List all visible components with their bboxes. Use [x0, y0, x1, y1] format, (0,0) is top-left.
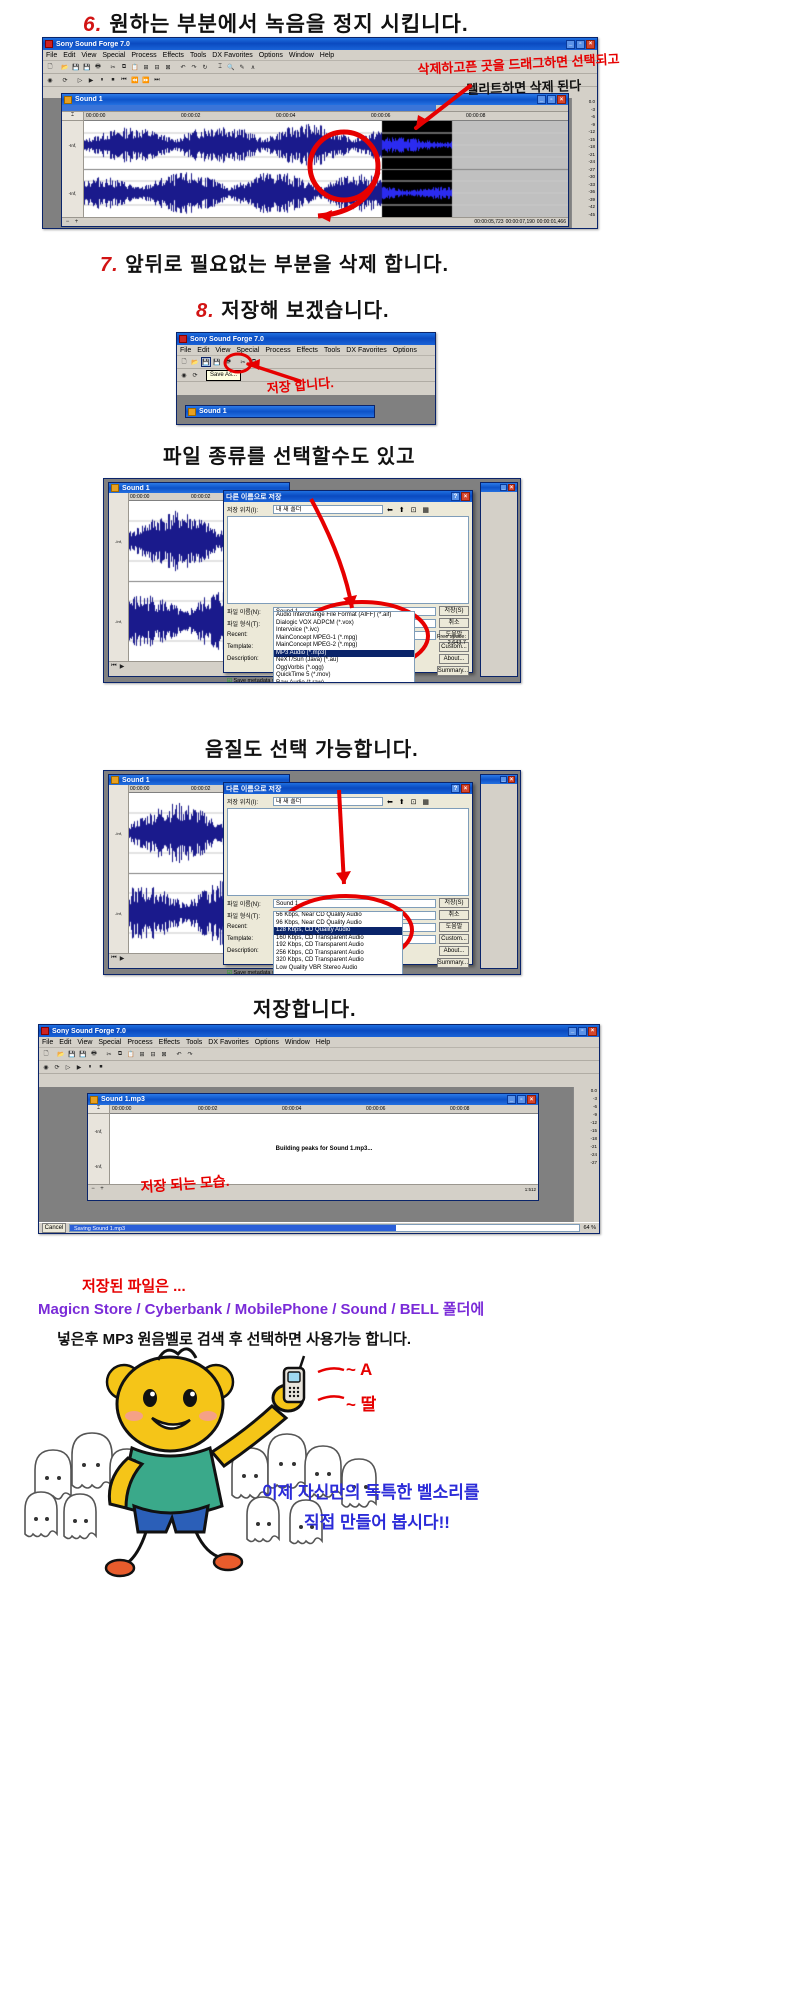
db-scale: 0.0 -3 -6 -9 -12 -15 -18 -21 -24 -27 -30… [571, 98, 597, 228]
document-icon-5 [90, 1096, 98, 1104]
print-icon[interactable]: 🖶 [93, 62, 103, 72]
file-name-row-2[interactable]: 파일 이름(N): Sound 1 저장(S) [227, 898, 469, 908]
db-meter-panel-3: _ × [480, 482, 518, 677]
meter-close-4[interactable]: × [508, 776, 515, 783]
db-tick-2: -6 [572, 113, 595, 121]
meter-window-controls-3[interactable]: _ × [500, 484, 515, 491]
ruler5-tick-4: 00:00:08 [450, 1106, 469, 1112]
format-option-7[interactable]: OggVorbis (*.ogg) [274, 665, 414, 673]
document-window-controls[interactable]: _ ▫ × [537, 95, 566, 104]
menu-bar-5[interactable]: File Edit View Special Process Effects T… [39, 1037, 599, 1048]
menu-process[interactable]: Process [131, 52, 156, 59]
db5-tick-7: -21 [574, 1143, 597, 1151]
close-button-5[interactable]: × [588, 1027, 597, 1036]
waveform-display[interactable] [84, 121, 568, 217]
loop-icon-5[interactable]: ⟳ [52, 1062, 62, 1072]
magnify-icon[interactable]: 🔍 [226, 62, 236, 72]
menu-help[interactable]: Help [320, 52, 334, 59]
rewind-icon[interactable]: ⏪ [130, 75, 140, 85]
menu2-special[interactable]: Special [236, 347, 259, 354]
mix-icon[interactable]: ⊞ [141, 62, 151, 72]
save-all-icon-5[interactable]: 💾 [78, 1049, 88, 1059]
zoom-in-icon[interactable]: + [73, 219, 80, 226]
db-tick-14: -42 [572, 203, 595, 211]
db5-tick-3: -9 [574, 1111, 597, 1119]
new-icon-2[interactable]: 🗋 [179, 357, 189, 367]
cut-icon-5[interactable]: ✂ [104, 1049, 114, 1059]
app-status-bar-5: Cancel Saving Sound 1.mp3 64 % [39, 1222, 599, 1233]
record-icon-5[interactable]: ◉ [41, 1062, 51, 1072]
print-icon-5[interactable]: 🖶 [89, 1049, 99, 1059]
refresh-icon[interactable]: ↻ [200, 62, 210, 72]
db-scale-5: 0.0 -3 -6 -9 -12 -15 -18 -21 -24 -27 [573, 1087, 599, 1233]
db-tick-10: -30 [572, 173, 595, 181]
format-option-9[interactable]: Raw Audio (*.raw) [274, 680, 414, 684]
goto-start-icon[interactable]: ⏮ [119, 75, 129, 85]
menu2-tools[interactable]: Tools [324, 347, 340, 354]
document-minimize-button[interactable]: _ [537, 95, 546, 104]
meter-minimize-4[interactable]: _ [500, 776, 507, 783]
menu2-file[interactable]: File [180, 347, 191, 354]
play-icon-3[interactable]: ▶ [119, 663, 125, 669]
window-controls[interactable]: _ ▫ × [566, 40, 595, 49]
template-option-0[interactable]: 56 Kbps, Near CD Quality Audio [274, 912, 402, 920]
dialog-titlebar-2[interactable]: 다른 이름으로 저장 ? × [224, 783, 472, 794]
template-option-5[interactable]: 256 Kbps, CD Transparent Audio [274, 950, 402, 958]
summary-button-1[interactable]: Summary... [437, 666, 469, 676]
window5-titlebar[interactable]: Sony Sound Forge 7.0 _ ▫ × [39, 1025, 599, 1037]
ruler5-tick-1: 00:00:02 [198, 1106, 217, 1112]
sound-document-window[interactable]: Sound 1 _ ▫ × ⌶ 00:00:00 00:00:02 00:00:… [61, 93, 569, 227]
menu2-dx-favorites[interactable]: DX Favorites [346, 347, 386, 354]
ruler-tick-0: 00:00:00 [86, 113, 105, 119]
paste-icon-5[interactable]: 📋 [126, 1049, 136, 1059]
save-in-label-2: 저장 위치(I): [227, 797, 273, 806]
menu-special[interactable]: Special [102, 52, 125, 59]
menu5-dx-favorites[interactable]: DX Favorites [208, 1039, 248, 1046]
file-type-label-2: 파일 형식(T): [227, 911, 273, 920]
about-button-2[interactable]: About... [439, 946, 469, 956]
stop-icon-5[interactable]: ⏹ [96, 1062, 106, 1072]
menu-dx-favorites[interactable]: DX Favorites [212, 52, 252, 59]
menu2-process[interactable]: Process [265, 347, 290, 354]
menu-edit[interactable]: Edit [63, 52, 75, 59]
channel-labels: -Inf, -Inf, [62, 121, 84, 217]
paste-icon[interactable]: 📋 [130, 62, 140, 72]
step9-caption: 파일 종류를 선택할수도 있고 [163, 440, 415, 469]
dialog-help-button-1[interactable]: ? [451, 492, 460, 501]
cut-icon-2[interactable]: ✂ [238, 357, 248, 367]
save-icon-5[interactable]: 💾 [67, 1049, 77, 1059]
app-icon-5 [41, 1027, 49, 1035]
new-icon[interactable]: 🗋 [45, 62, 55, 72]
document-status-bar: − + 00:00:05,723 00:00:07,190 00:00:01,4… [62, 217, 568, 226]
final-call-to-action-line2: 직접 만들어 봅시다!! [304, 1508, 450, 1533]
status-length: 00:00:01,466 [537, 219, 566, 225]
new-icon-5[interactable]: 🗋 [41, 1049, 51, 1059]
record-icon[interactable]: ◉ [45, 75, 55, 85]
redo-icon-5[interactable]: ↷ [185, 1049, 195, 1059]
menu2-effects[interactable]: Effects [297, 347, 318, 354]
open-icon-5[interactable]: 📂 [56, 1049, 66, 1059]
save-icon[interactable]: 💾 [71, 62, 81, 72]
template-option-3[interactable]: 160 Kbps, CD Transparent Audio [274, 935, 402, 943]
db5-tick-8: -24 [574, 1151, 597, 1159]
template-label-2: Template: [227, 936, 273, 942]
loop-icon-2[interactable]: ⟳ [190, 370, 200, 380]
save-as-dialog-2[interactable]: 다른 이름으로 저장 ? × 저장 위치(I): 내 새 폴더 ⬅ ⬆ ⊡ ▦ … [223, 782, 473, 965]
file-type-dropdown-list[interactable]: Audio Interchange File Format (AIFF) (*.… [273, 611, 415, 683]
db-tick-4: -12 [572, 128, 595, 136]
menu5-window[interactable]: Window [285, 1039, 310, 1046]
nav-start-icon-4[interactable]: ⏮ [111, 955, 117, 961]
sound-document-window-2[interactable]: Sound 1 [185, 405, 375, 418]
document-close-button-5[interactable]: × [527, 1095, 536, 1104]
cut-icon[interactable]: ✂ [108, 62, 118, 72]
menu5-options[interactable]: Options [255, 1039, 279, 1046]
minimize-button-5[interactable]: _ [568, 1027, 577, 1036]
trim-icon[interactable]: ⊟ [152, 62, 162, 72]
save-button-2[interactable]: 저장(S) [439, 898, 469, 908]
ruler-tick-1: 00:00:02 [181, 113, 200, 119]
document-title-2: Sound 1 [199, 408, 372, 415]
zoom-out-icon-5[interactable]: − [90, 1186, 96, 1192]
delete-icon-5[interactable]: ⊠ [159, 1049, 169, 1059]
app-icon [45, 40, 53, 48]
dialog-controls-1[interactable]: ? × [451, 492, 470, 501]
db5-tick-0: 0.0 [574, 1087, 597, 1095]
soundforge-window-5[interactable]: Sony Sound Forge 7.0 _ ▫ × File Edit Vie… [38, 1024, 600, 1234]
recent-label-2: Recent: [227, 924, 273, 930]
about-button-1[interactable]: About... [439, 654, 469, 664]
status-end-time: 00:00:07,190 [506, 219, 535, 225]
step8-number: 8. [196, 300, 215, 322]
file-name-label-1: 파일 이름(N): [227, 607, 273, 616]
save-progress-bar: Saving Sound 1.mp3 [69, 1224, 580, 1232]
template-label-1: Template: [227, 644, 273, 650]
document-maximize-button-5[interactable]: ▫ [517, 1095, 526, 1104]
menu5-tools[interactable]: Tools [186, 1039, 202, 1046]
db5-tick-2: -6 [574, 1103, 597, 1111]
edit-tool-icon[interactable]: ⌶ [215, 62, 225, 72]
menu5-file[interactable]: File [42, 1039, 53, 1046]
save-all-icon[interactable]: 💾 [82, 62, 92, 72]
db5-tick-9: -27 [574, 1159, 597, 1167]
final-call-to-action-line1: 이제 자신만의 독특한 벨소리를 [262, 1478, 480, 1503]
save-as-dialog-1[interactable]: 다른 이름으로 저장 ? × 저장 위치(I): 내 새 폴더 ⬅ ⬆ ⊡ ▦ … [223, 490, 473, 673]
undo-icon-5[interactable]: ↶ [174, 1049, 184, 1059]
menu2-options[interactable]: Options [393, 347, 417, 354]
save-progress-percent: 64 % [583, 1225, 596, 1231]
window-title: Sony Sound Forge 7.0 [56, 41, 566, 48]
channel-label-left: -Inf, [62, 121, 83, 169]
overview-bar[interactable] [62, 105, 568, 112]
dialog-nav-icons-2[interactable]: ⬅ ⬆ ⊡ ▦ [387, 798, 431, 806]
ruler5-tick-3: 00:00:06 [366, 1106, 385, 1112]
template-option-2[interactable]: 128 Kbps, CD Quality Audio [274, 927, 402, 935]
document-icon-3 [111, 484, 119, 492]
step7-text: 앞뒤로 필요없는 부분을 삭제 합니다. [125, 254, 449, 276]
save-in-row-2[interactable]: 저장 위치(I): 내 새 폴더 ⬅ ⬆ ⊡ ▦ [227, 797, 469, 806]
redo-icon[interactable]: ↷ [189, 62, 199, 72]
save-in-select-1[interactable]: 내 새 폴더 [273, 505, 383, 514]
menu-window[interactable]: Window [289, 52, 314, 59]
menu2-edit[interactable]: Edit [197, 347, 209, 354]
channel-labels-3: -Inf, -Inf, [109, 501, 129, 661]
db-tick-0: 0.0 [572, 98, 595, 106]
zoom-in-icon-5[interactable]: + [99, 1186, 105, 1192]
app-icon-2 [179, 335, 187, 343]
copy-icon[interactable]: ⧉ [119, 62, 129, 72]
print-icon-2[interactable]: 🖶 [223, 357, 233, 367]
db-tick-8: -24 [572, 158, 595, 166]
document-minimize-button-5[interactable]: _ [507, 1095, 516, 1104]
db-tick-15: -45 [572, 211, 595, 219]
format-option-2[interactable]: Intervoice (*.ivc) [274, 627, 414, 635]
trim-icon-5[interactable]: ⊟ [148, 1049, 158, 1059]
sound-effect-2: ~ 딸 [346, 1390, 376, 1415]
dialog-titlebar-1[interactable]: 다른 이름으로 저장 ? × [224, 491, 472, 502]
building-peaks-message: Building peaks for Sound 1.mp3... [110, 1146, 538, 1152]
channel-labels-5: -Inf, -Inf, [88, 1114, 110, 1184]
template-option-6[interactable]: 320 Kbps, CD Transparent Audio [274, 957, 402, 965]
annotation-delete-key: 델리트하면 삭제 된다 [466, 75, 581, 98]
dialog-close-button-2[interactable]: × [461, 784, 470, 793]
pause-icon-5[interactable]: ⏸ [85, 1062, 95, 1072]
channel5-label-right: -Inf, [88, 1149, 109, 1184]
channel-labels-4: -Inf, -Inf, [109, 793, 129, 953]
document-maximize-button[interactable]: ▫ [547, 95, 556, 104]
sound-effect-1: ~ A [346, 1360, 372, 1380]
format-option-3[interactable]: MainConcept MPEG-1 (*.mpg) [274, 635, 414, 643]
format-option-5[interactable]: MP3 Audio (*.mp3) [274, 650, 414, 658]
format-option-8[interactable]: QuickTime 5 (*.mov) [274, 672, 414, 680]
meter-titlebar-3[interactable]: _ × [481, 483, 517, 492]
meter-window-controls-4[interactable]: _ × [500, 776, 515, 783]
template-option-1[interactable]: 96 Kbps, Near CD Quality Audio [274, 920, 402, 928]
save-in-row-1[interactable]: 저장 위치(I): 내 새 폴더 ⬅ ⬆ ⊡ ▦ [227, 505, 469, 514]
soundforge-window-4[interactable]: Sound 1 00:00:00 00:00:02 00:00:04 -Inf,… [103, 770, 521, 975]
db-tick-3: -9 [572, 121, 595, 129]
record-icon-2[interactable]: ◉ [179, 370, 189, 380]
ruler-tick-4: 00:00:08 [466, 113, 485, 119]
pause-icon[interactable]: ⏸ [97, 75, 107, 85]
step6-caption: 6. 원하는 부분에서 녹음을 정지 시킵니다. [83, 8, 469, 38]
window2-titlebar[interactable]: Sony Sound Forge 7.0 [177, 333, 435, 345]
db5-tick-5: -15 [574, 1127, 597, 1135]
copy-icon-2[interactable]: ⧉ [249, 357, 259, 367]
play-icon[interactable]: ▶ [86, 75, 96, 85]
dialog-nav-icons-1[interactable]: ⬅ ⬆ ⊡ ▦ [387, 506, 431, 514]
document-close-button[interactable]: × [557, 95, 566, 104]
final-note-line2: Magicn Store / Cyberbank / MobilePhone /… [38, 1298, 484, 1319]
file-name-label-2: 파일 이름(N): [227, 899, 273, 908]
cancel-save-button[interactable]: Cancel [42, 1223, 66, 1233]
play-icon-5[interactable]: ▶ [74, 1062, 84, 1072]
window5-title: Sony Sound Forge 7.0 [52, 1028, 568, 1035]
step7-caption: 7. 앞뒤로 필요없는 부분을 삭제 합니다. [100, 248, 449, 277]
step8-caption: 8. 저장해 보겠습니다. [196, 294, 390, 323]
close-button[interactable]: × [586, 40, 595, 49]
document5-controls[interactable]: _ ▫ × [507, 1095, 536, 1104]
free-space-block-1: Free space: 2,643.7 [437, 634, 466, 646]
file-name-input-2[interactable]: Sound 1 [273, 899, 436, 908]
ruler-tick-2: 00:00:04 [276, 113, 295, 119]
window2-title: Sony Sound Forge 7.0 [190, 336, 433, 343]
db-tick-12: -36 [572, 188, 595, 196]
save-all-icon-2[interactable]: 💾 [212, 357, 222, 367]
format-option-0[interactable]: Audio Interchange File Format (AIFF) (*.… [274, 612, 414, 620]
menu5-effects[interactable]: Effects [159, 1039, 180, 1046]
ruler-tick-3: 00:00:06 [371, 113, 390, 119]
menu-options[interactable]: Options [259, 52, 283, 59]
window-titlebar[interactable]: Sony Sound Forge 7.0 _ ▫ × [43, 38, 597, 50]
save-button-1[interactable]: 저장(S) [439, 606, 469, 616]
ruler-corner: ⌶ [62, 112, 84, 121]
ruler3-tick-0: 00:00:00 [130, 494, 149, 500]
ruler4-tick-1: 00:00:02 [191, 786, 210, 792]
save-as-icon[interactable]: 💾 [201, 357, 211, 367]
format-option-6[interactable]: NeXT/Sun (Java) (*.au) [274, 657, 414, 665]
db-tick-5: -15 [572, 136, 595, 144]
open-icon[interactable]: 📂 [60, 62, 70, 72]
ruler-corner-3 [109, 493, 129, 501]
document-titlebar-2[interactable]: Sound 1 [186, 406, 374, 417]
menu2-view[interactable]: View [215, 347, 230, 354]
step7-number: 7. [100, 254, 119, 276]
file-list-area-2[interactable] [227, 808, 469, 896]
db-tick-9: -27 [572, 166, 595, 174]
channel3-label-right: -Inf, [109, 581, 128, 661]
ruler4-tick-0: 00:00:00 [130, 786, 149, 792]
ruler3-tick-1: 00:00:02 [191, 494, 210, 500]
illustration-layer [0, 0, 800, 1991]
dialog-close-button-1[interactable]: × [461, 492, 470, 501]
file-list-area-1[interactable] [227, 516, 469, 604]
undo-icon[interactable]: ↶ [178, 62, 188, 72]
menu-bar-2[interactable]: File Edit View Special Process Effects T… [177, 345, 435, 356]
template-dropdown-list[interactable]: 56 Kbps, Near CD Quality Audio 96 Kbps, … [273, 911, 403, 975]
ruler-corner-4 [109, 785, 129, 793]
db5-tick-4: -12 [574, 1119, 597, 1127]
open-icon-2[interactable]: 📂 [190, 357, 200, 367]
transport-toolbar-5[interactable]: ◉ ⟳ ▷ ▶ ⏸ ⏹ [39, 1061, 599, 1074]
menu-tools[interactable]: Tools [190, 52, 206, 59]
final-note-line3: 넣은후 MP3 원음벨로 검색 후 선택하면 사용가능 합니다. [57, 1328, 411, 1349]
menu-file[interactable]: File [46, 52, 57, 59]
ruler5-tick-0: 00:00:00 [112, 1106, 131, 1112]
main-toolbar-5[interactable]: 🗋 📂 💾 💾 🖶 ✂ ⧉ 📋 ⊞ ⊟ ⊠ ↶ ↷ [39, 1048, 599, 1061]
maximize-button[interactable]: ▫ [576, 40, 585, 49]
meter-minimize-3[interactable]: _ [500, 484, 507, 491]
save-progress-text: Saving Sound 1.mp3 [74, 1225, 125, 1232]
menu-view[interactable]: View [81, 52, 96, 59]
cancel-button-1[interactable]: 취소 [439, 618, 469, 628]
overview-range[interactable] [62, 105, 436, 111]
summary-button-2[interactable]: Summary... [437, 958, 469, 968]
menu5-view[interactable]: View [77, 1039, 92, 1046]
mix-icon-5[interactable]: ⊞ [137, 1049, 147, 1059]
db-tick-7: -21 [572, 151, 595, 159]
db-meter-panel-4: _ × [480, 774, 518, 969]
goto-end-icon[interactable]: ⏭ [152, 75, 162, 85]
delete-icon[interactable]: ⊠ [163, 62, 173, 72]
main-toolbar-2[interactable]: 🗋 📂 💾 💾 🖶 ✂ ⧉ [177, 356, 435, 369]
loop-icon[interactable]: ⟳ [60, 75, 70, 85]
dialog-title-2: 다른 이름으로 저장 [226, 784, 451, 794]
step10-caption: 음질도 선택 가능합니다. [205, 733, 419, 762]
waveform-display-5[interactable]: Building peaks for Sound 1.mp3... [110, 1114, 538, 1184]
final-note-line1: 저장된 파일은 ... [82, 1275, 186, 1296]
time-ruler[interactable]: 00:00:00 00:00:02 00:00:04 00:00:06 00:0… [84, 112, 568, 121]
description-label-1: Description: [227, 656, 273, 662]
document-title-5: Sound 1.mp3 [101, 1096, 507, 1103]
template-option-4[interactable]: 192 Kbps, CD Transparent Audio [274, 942, 402, 950]
db-tick-1: -3 [572, 106, 595, 114]
document-titlebar-5[interactable]: Sound 1.mp3 _ ▫ × [88, 1094, 538, 1105]
save-in-select-2[interactable]: 내 새 폴더 [273, 797, 383, 806]
save-as-tooltip: Save As... [206, 370, 241, 381]
step8-text: 저장해 보겠습니다. [221, 300, 389, 322]
window5-controls[interactable]: _ ▫ × [568, 1027, 597, 1036]
format-option-1[interactable]: Dialogic VOX ADPCM (*.vox) [274, 620, 414, 628]
menu5-help[interactable]: Help [316, 1039, 330, 1046]
channel-label-right: -Inf, [62, 169, 83, 217]
recent-label-1: Recent: [227, 632, 273, 638]
ruler-corner-5: ⌶ [88, 1105, 110, 1114]
channel5-label-left: -Inf, [88, 1114, 109, 1149]
soundforge-window-3[interactable]: Sound 1 00:00:00 00:00:02 00:00:04 -Inf,… [103, 478, 521, 683]
meter-titlebar-4[interactable]: _ × [481, 775, 517, 784]
menu5-process[interactable]: Process [127, 1039, 152, 1046]
dialog-controls-2[interactable]: ? × [451, 784, 470, 793]
envelope-icon[interactable]: ∧ [248, 62, 258, 72]
forward-icon[interactable]: ⏩ [141, 75, 151, 85]
dialog-title-1: 다른 이름으로 저장 [226, 492, 451, 502]
play-all-icon-5[interactable]: ▷ [63, 1062, 73, 1072]
menu5-edit[interactable]: Edit [59, 1039, 71, 1046]
channel4-label-right: -Inf, [109, 873, 128, 953]
play-icon-4[interactable]: ▶ [119, 955, 125, 961]
custom-button-2[interactable]: Custom... [439, 934, 469, 944]
step6-text: 원하는 부분에서 녹음을 정지 시킵니다. [109, 13, 468, 36]
help-button-2[interactable]: 도움말 [439, 922, 469, 932]
menu-effects[interactable]: Effects [163, 52, 184, 59]
cancel-button-2[interactable]: 취소 [439, 910, 469, 920]
document-icon-2 [188, 408, 196, 416]
db5-tick-1: -3 [574, 1095, 597, 1103]
status-rate-5: 1:512 [525, 1187, 536, 1192]
maximize-button-5[interactable]: ▫ [578, 1027, 587, 1036]
format-option-4[interactable]: MainConcept MPEG-2 (*.mpg) [274, 642, 414, 650]
stop-icon[interactable]: ⏹ [108, 75, 118, 85]
time-ruler-5[interactable]: 00:00:00 00:00:02 00:00:04 00:00:06 00:0… [110, 1105, 538, 1114]
meter-close-3[interactable]: × [508, 484, 515, 491]
template-option-7[interactable]: Low Quality VBR Stereo Audio [274, 965, 402, 973]
ruler5-tick-2: 00:00:04 [282, 1106, 301, 1112]
channel4-label-left: -Inf, [109, 793, 128, 873]
minimize-button[interactable]: _ [566, 40, 575, 49]
file-type-label-1: 파일 형식(T): [227, 619, 273, 628]
play-all-icon[interactable]: ▷ [75, 75, 85, 85]
waveform-canvas[interactable] [84, 121, 568, 217]
zoom-out-icon[interactable]: − [64, 219, 71, 226]
pencil-icon[interactable]: ✎ [237, 62, 247, 72]
menu5-special[interactable]: Special [98, 1039, 121, 1046]
copy-icon-5[interactable]: ⧉ [115, 1049, 125, 1059]
nav-start-icon-3[interactable]: ⏮ [111, 663, 117, 669]
dialog-help-button-2[interactable]: ? [451, 784, 460, 793]
